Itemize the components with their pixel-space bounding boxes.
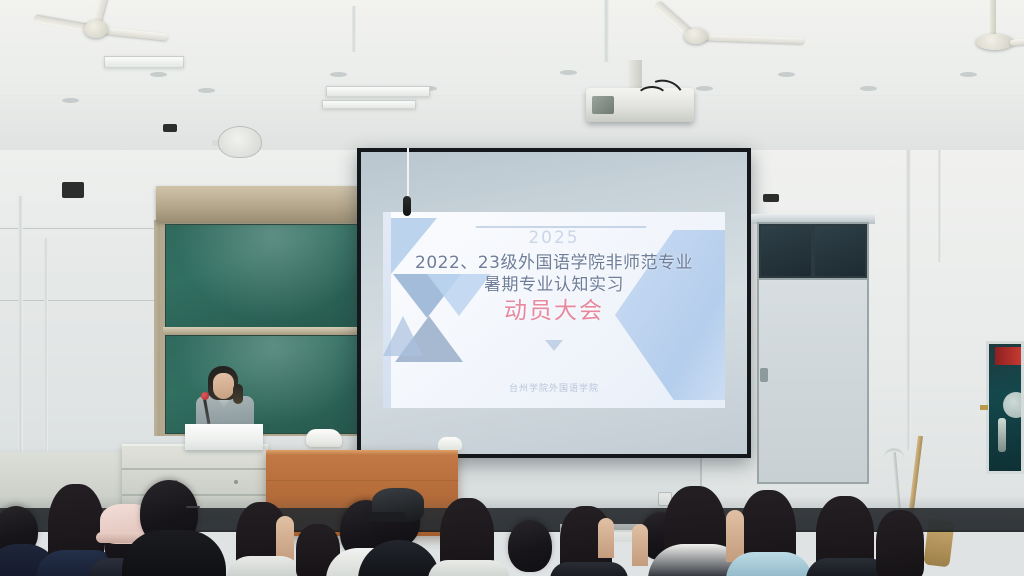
- audience-shoulders: [88, 558, 172, 576]
- wall-mounted-fan: [212, 122, 268, 162]
- ceiling-fixture-dot: [62, 98, 79, 103]
- microphone-head-icon: [201, 392, 209, 400]
- presentation-slide: 2025 2022、23级外国语学院非师范专业 暑期专业认知实习 动员大会 台州…: [383, 212, 725, 408]
- chalkboard-valance: [156, 186, 366, 222]
- wall-speaker-left: [62, 182, 84, 198]
- transom-pane: [815, 226, 865, 276]
- podium-top-edge: [266, 450, 458, 455]
- presenter-face: [213, 373, 234, 399]
- wall-pipe-right: [906, 150, 911, 450]
- poster-figure-motif: [998, 418, 1006, 452]
- poster-circle-motif: [1003, 392, 1024, 418]
- ceiling-fixture-dot: [150, 72, 167, 77]
- audience-shoulders: [726, 552, 812, 576]
- slide-headline: 动员大会: [383, 296, 725, 326]
- audience-shoulders: [428, 560, 510, 576]
- wall-seam-horizontal-2: [0, 300, 160, 301]
- wall-pipe-right-drop: [938, 150, 941, 262]
- lower-wall-shadow: [0, 496, 1024, 530]
- white-cloth-bundle: [306, 429, 342, 447]
- slide-year-watermark: 2025: [383, 228, 725, 248]
- audience-shoulders: [806, 558, 890, 576]
- cabinet-knob[interactable]: [174, 480, 178, 484]
- fan-head: [218, 126, 262, 158]
- projection-screen-surface: 2025 2022、23级外国语学院非师范专业 暑期专业认知实习 动员大会 台州…: [361, 152, 747, 454]
- chalkboard-glare: [166, 225, 360, 329]
- ceiling-light-panel: [104, 56, 184, 68]
- audience-shoulders: [122, 530, 226, 576]
- slide-title-line-2: 暑期专业认知实习: [383, 274, 725, 296]
- ceiling-light-panel: [326, 86, 430, 97]
- audience-shoulders: [326, 548, 410, 576]
- ceiling-fixture-dot: [778, 72, 795, 77]
- lectern: [185, 424, 263, 450]
- wall-speaker-right: [763, 194, 779, 202]
- screen-pull-cord[interactable]: [407, 148, 409, 200]
- wall-sensor: [163, 124, 177, 132]
- presenter-ponytail: [233, 384, 243, 404]
- slide-title-line-1: 2022、23级外国语学院非师范专业: [383, 252, 725, 274]
- audience-shoulders: [648, 544, 748, 576]
- white-cloth-bundle-2: [438, 437, 462, 450]
- podium-grain: [266, 480, 458, 481]
- audience-shoulders: [550, 562, 628, 576]
- ceiling-light-panel: [322, 100, 416, 109]
- door-handle[interactable]: [760, 368, 768, 382]
- projection-screen: 2025 2022、23级外国语学院非师范专业 暑期专业认知实习 动员大会 台州…: [357, 148, 751, 458]
- cabinet-seam: [122, 468, 268, 470]
- cap-brim: [96, 532, 142, 543]
- chalkboard-frame: [160, 220, 364, 436]
- ceiling-conduit: [604, 0, 609, 62]
- ceiling-fixture-dot: [860, 86, 877, 91]
- screen-pull-cord-grip[interactable]: [403, 196, 411, 216]
- poster-hook: [980, 405, 988, 410]
- framed-wall-poster: [986, 341, 1024, 474]
- slide-title-block: 2022、23级外国语学院非师范专业 暑期专业认知实习 动员大会: [383, 252, 725, 326]
- slide-caret-icon: [545, 340, 563, 351]
- door-transom-window: [757, 222, 869, 280]
- cabinet-knob[interactable]: [234, 480, 238, 484]
- chalkboard-panel-top: [165, 224, 361, 330]
- transom-pane: [761, 226, 811, 276]
- ceiling-fixture-dot: [330, 72, 347, 77]
- lecture-hall-photo: 2025 2022、23级外国语学院非师范专业 暑期专业认知实习 动员大会 台州…: [0, 0, 1024, 576]
- slide-footer-organization: 台州学院外国语学院: [383, 381, 725, 394]
- poster-red-banner: [995, 347, 1021, 365]
- ceiling-fixture-dot: [696, 86, 713, 91]
- audience-shoulders: [358, 540, 440, 576]
- audience-shoulders: [0, 544, 60, 576]
- projector-lens-icon: [592, 96, 614, 114]
- audience-shoulders: [226, 556, 304, 576]
- ceiling-fixture-dot: [198, 88, 215, 93]
- ceiling-conduit: [352, 6, 356, 52]
- ceiling-fixture-dot: [960, 72, 977, 77]
- ceiling-fixture-dot: [560, 70, 577, 75]
- ceiling-soffit: [0, 96, 1024, 154]
- chalkboard-rail: [163, 327, 361, 335]
- audience-shoulders: [36, 550, 122, 576]
